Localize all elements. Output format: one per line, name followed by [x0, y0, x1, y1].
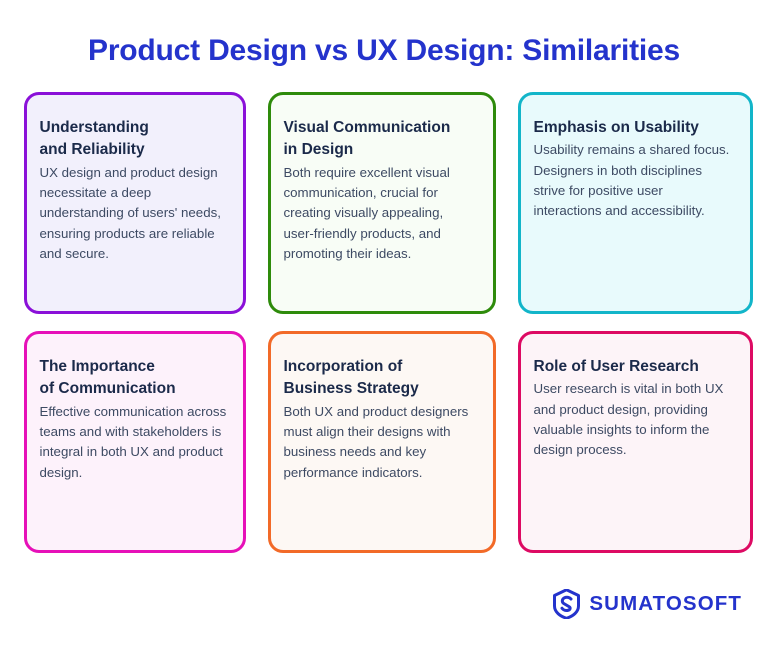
cards-grid: Understanding and Reliability UX design …	[0, 92, 768, 553]
card-role-of-user-research: Role of User Research User research is v…	[518, 331, 753, 553]
brand-logo: SUMATOSOFT	[553, 589, 742, 619]
card-body: Usability remains a shared focus. Design…	[534, 140, 734, 221]
card-title: Understanding and Reliability	[40, 117, 227, 162]
card-body: UX design and product design necessitate…	[40, 163, 227, 264]
card-body: Both require excellent visual communicat…	[284, 163, 477, 264]
card-title: Role of User Research	[534, 356, 734, 378]
card-the-importance-of-communication: The Importance of Communication Effectiv…	[24, 331, 246, 553]
card-title: Incorporation of Business Strategy	[284, 356, 477, 401]
infographic-page: Product Design vs UX Design: Similaritie…	[0, 0, 768, 647]
card-body: User research is vital in both UX and pr…	[534, 379, 734, 460]
card-understanding-and-reliability: Understanding and Reliability UX design …	[24, 92, 246, 314]
card-visual-communication-in-design: Visual Communication in Design Both requ…	[268, 92, 496, 314]
page-title: Product Design vs UX Design: Similaritie…	[0, 0, 768, 69]
shield-s-logo-icon	[553, 589, 580, 619]
card-body: Both UX and product designers must align…	[284, 402, 477, 483]
card-emphasis-on-usability: Emphasis on Usability Usability remains …	[518, 92, 753, 314]
card-incorporation-of-business-strategy: Incorporation of Business Strategy Both …	[268, 331, 496, 553]
card-title: Visual Communication in Design	[284, 117, 477, 162]
logo-text: SUMATOSOFT	[589, 594, 742, 615]
card-title: The Importance of Communication	[40, 356, 227, 401]
card-title: Emphasis on Usability	[534, 117, 734, 139]
card-body: Effective communication across teams and…	[40, 402, 227, 483]
